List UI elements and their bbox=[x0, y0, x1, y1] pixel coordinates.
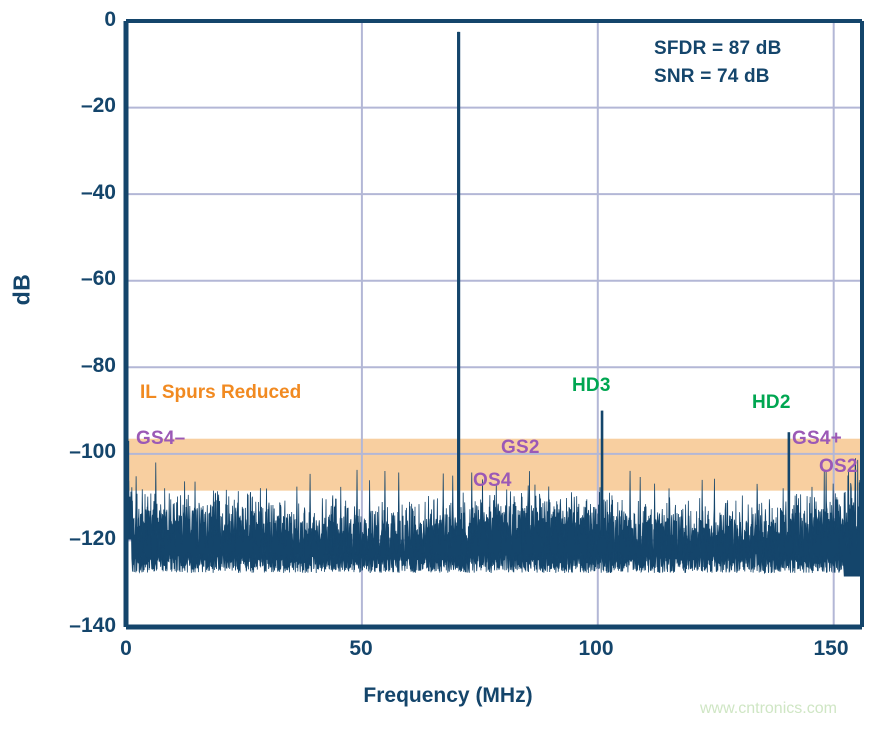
annotation-os2: OS2 bbox=[819, 456, 858, 478]
annotation-gs4-plus: GS4+ bbox=[792, 428, 842, 450]
annotation-sfdr: SFDR = 87 dB bbox=[654, 38, 782, 60]
annotation-hd3: HD3 bbox=[572, 375, 611, 397]
watermark: www.cntronics.com bbox=[700, 700, 837, 718]
annotation-os4: OS4 bbox=[473, 470, 512, 492]
spectrum-chart: dB 0 –20 –40 –60 –80 –100 –120 –140 0 50… bbox=[0, 0, 896, 729]
annotation-il-spurs-reduced: IL Spurs Reduced bbox=[140, 382, 301, 404]
annotation-gs2: GS2 bbox=[501, 437, 540, 459]
annotation-hd2: HD2 bbox=[752, 392, 791, 414]
plot-area bbox=[0, 0, 896, 729]
annotation-snr: SNR = 74 dB bbox=[654, 66, 770, 88]
annotation-gs4-minus: GS4– bbox=[136, 428, 185, 450]
